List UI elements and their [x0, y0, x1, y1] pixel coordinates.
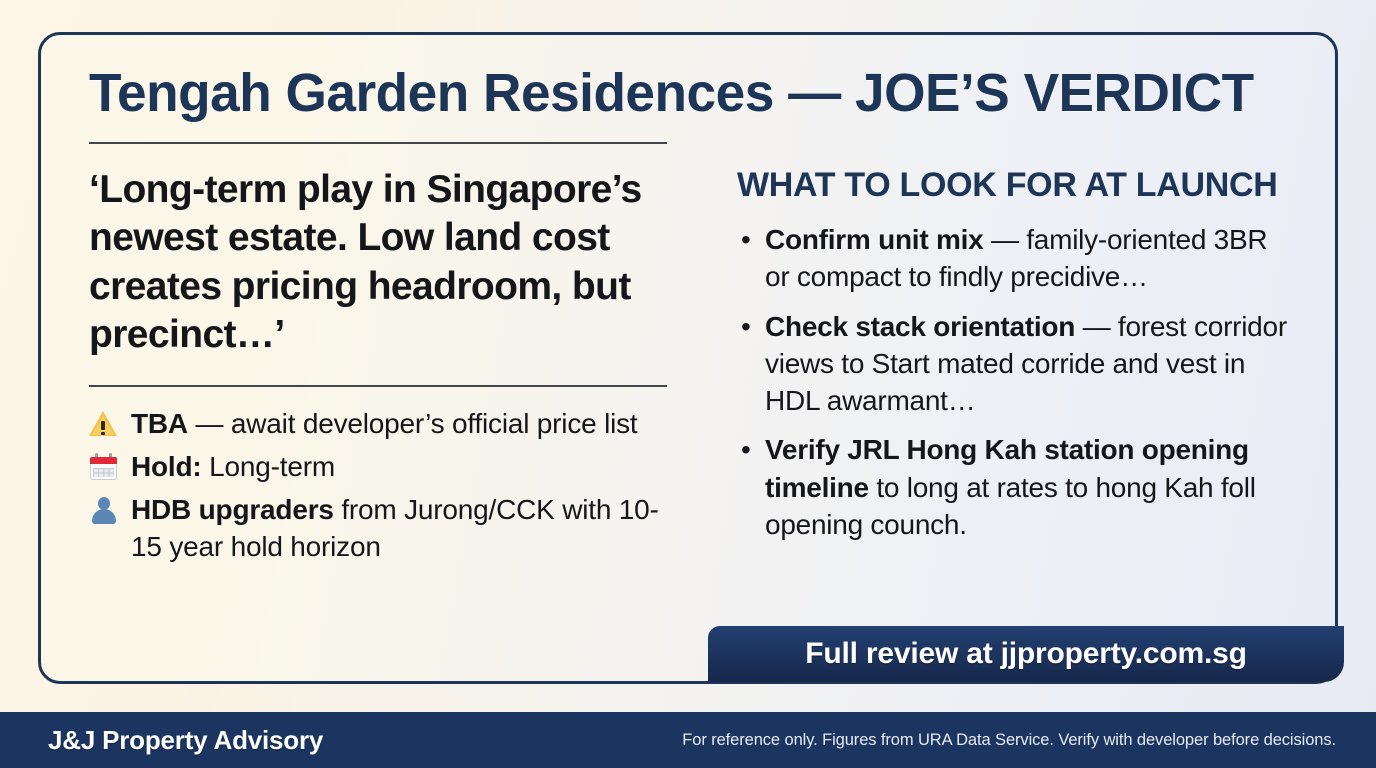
full-review-cta[interactable]: Full review at jjproperty.com.sg — [708, 626, 1344, 682]
calendar-icon — [89, 452, 131, 486]
fact-label: Hold: — [131, 451, 202, 482]
bullet-icon: • — [737, 221, 765, 258]
fact-text: TBA — await developer’s official price l… — [131, 405, 689, 442]
fact-rest: — await developer’s official price list — [188, 408, 638, 439]
two-column-layout: ‘Long-term play in Singapore’s newest es… — [89, 166, 1291, 570]
title-divider — [89, 142, 667, 144]
page-title: Tengah Garden Residences — JOE’S VERDICT — [89, 65, 1273, 122]
cta-label: Full review at jjproperty.com.sg — [805, 637, 1247, 671]
fact-rest: Long-term — [202, 451, 335, 482]
checklist-text: Confirm unit mix — family-oriented 3BR o… — [765, 221, 1291, 295]
right-column: WHAT TO LOOK FOR AT LAUNCH • Confirm uni… — [689, 166, 1291, 570]
list-item: Hold: Long-term — [89, 448, 689, 486]
footer-bar: J&J Property Advisory For reference only… — [0, 712, 1376, 768]
person-icon — [89, 495, 131, 529]
list-item: • Check stack orientation — forest corri… — [737, 308, 1291, 420]
checklist-text: Verify JRL Hong Kah station opening time… — [765, 431, 1291, 543]
verdict-card: Tengah Garden Residences — JOE’S VERDICT… — [38, 32, 1338, 684]
card-content: Tengah Garden Residences — JOE’S VERDICT… — [41, 35, 1335, 681]
bullet-icon: • — [737, 431, 765, 468]
checklist-label: Confirm unit mix — [765, 224, 983, 255]
warning-triangle-icon — [89, 409, 131, 443]
fact-text: Hold: Long-term — [131, 448, 689, 485]
disclaimer-text: For reference only. Figures from URA Dat… — [682, 731, 1336, 750]
bullet-icon: • — [737, 308, 765, 345]
list-item: • Verify JRL Hong Kah station opening ti… — [737, 431, 1291, 543]
list-item: • Confirm unit mix — family-oriented 3BR… — [737, 221, 1291, 295]
quote-divider — [89, 385, 667, 387]
fact-label: TBA — [131, 408, 188, 439]
brand-name: J&J Property Advisory — [48, 725, 323, 756]
fact-label: HDB upgraders — [131, 494, 334, 525]
list-item: HDB upgraders from Jurong/CCK with 10-15… — [89, 491, 689, 565]
launch-checklist: • Confirm unit mix — family-oriented 3BR… — [737, 221, 1291, 543]
fact-list: TBA — await developer’s official price l… — [89, 405, 689, 565]
list-item: TBA — await developer’s official price l… — [89, 405, 689, 443]
fact-text: HDB upgraders from Jurong/CCK with 10-15… — [131, 491, 689, 565]
checklist-label: Check stack orientation — [765, 311, 1075, 342]
left-column: ‘Long-term play in Singapore’s newest es… — [89, 166, 689, 570]
section-heading: WHAT TO LOOK FOR AT LAUNCH — [737, 166, 1291, 205]
verdict-quote: ‘Long-term play in Singapore’s newest es… — [89, 166, 689, 359]
checklist-text: Check stack orientation — forest corrido… — [765, 308, 1291, 420]
